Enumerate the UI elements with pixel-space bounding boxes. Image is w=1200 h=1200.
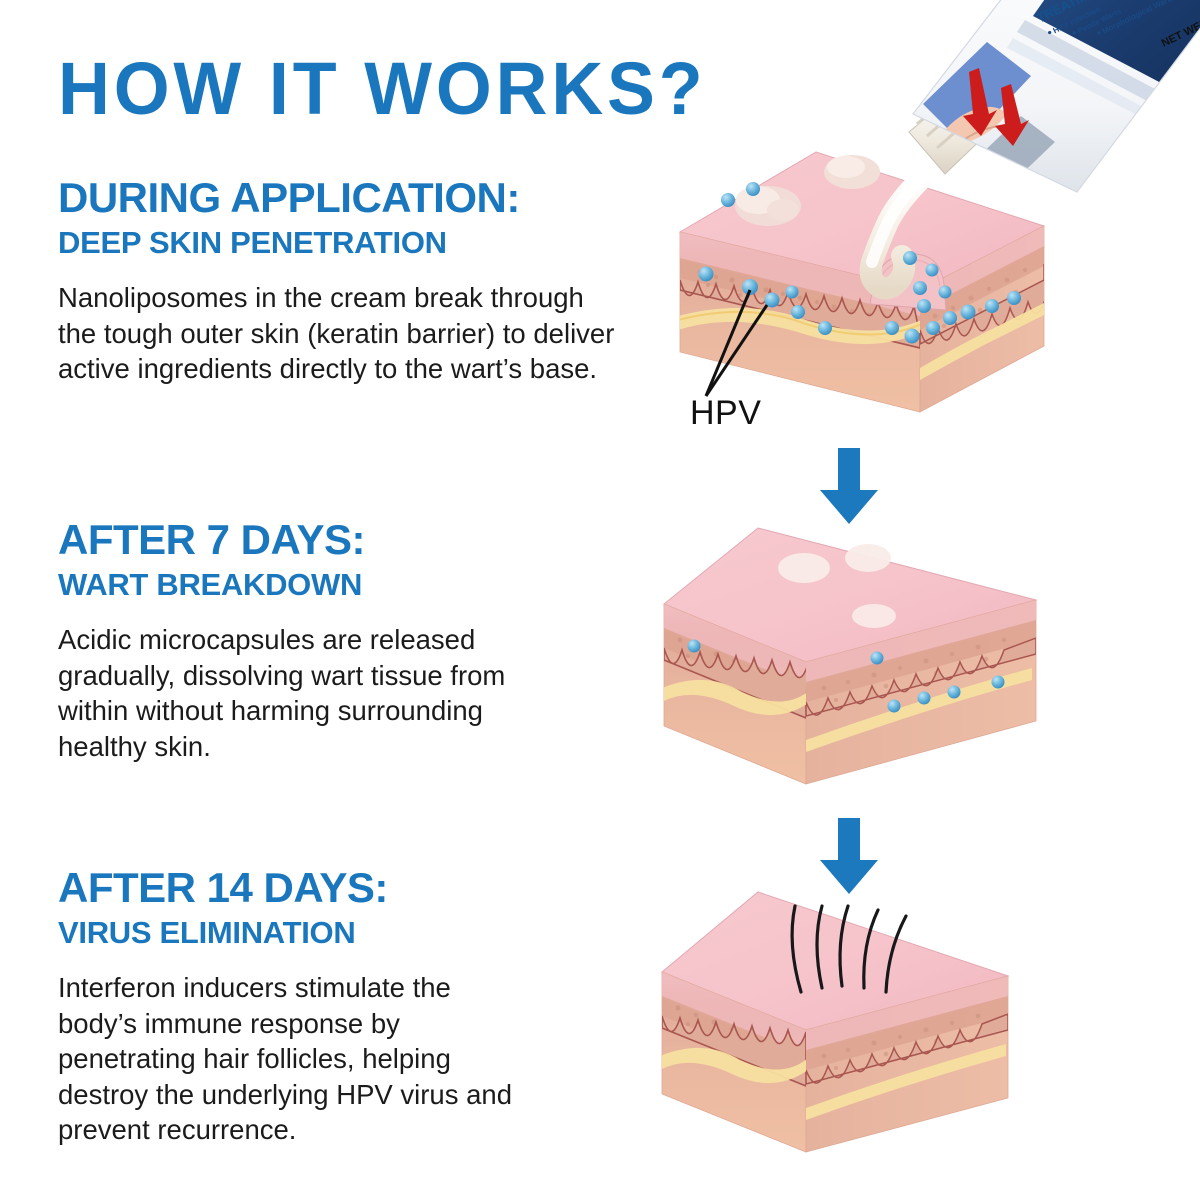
section-2-body: Acidic microcapsules are released gradua… (58, 622, 563, 764)
skin-diagram-after-7-days (636, 516, 1051, 801)
wart-cluster-center (824, 155, 880, 189)
section-1-body: Nanoliposomes in the cream break through… (58, 280, 618, 386)
section-3-body: Interferon inducers stimulate the body’s… (58, 970, 533, 1147)
section-3-heading: AFTER 14 DAYS: (58, 866, 618, 910)
page-title: HOW IT WORKS? (58, 52, 707, 126)
hpv-callout-label: HPV (690, 394, 761, 433)
product-tube: TREATMENT FOR: HPV Infection Penile Wart… (905, 0, 1200, 214)
section-1-subheading: DEEP SKIN PENETRATION (58, 224, 618, 263)
skin-diagram-after-14-days (636, 876, 1051, 1176)
section-3-subheading: VIRUS ELIMINATION (58, 914, 618, 953)
flow-arrow-down-1 (818, 448, 880, 526)
infographic-page: HOW IT WORKS? DURING APPLICATION: DEEP S… (0, 0, 1200, 1200)
section-after-7-days: AFTER 7 DAYS: WART BREAKDOWN Acidic micr… (58, 518, 618, 764)
section-1-heading: DURING APPLICATION: (58, 176, 618, 220)
section-after-14-days: AFTER 14 DAYS: VIRUS ELIMINATION Interfe… (58, 866, 618, 1148)
section-2-subheading: WART BREAKDOWN (58, 566, 618, 605)
arrow-down-icon (818, 448, 880, 526)
product-tube-illustration: TREATMENT FOR: HPV Infection Penile Wart… (905, 0, 1200, 214)
section-during-application: DURING APPLICATION: DEEP SKIN PENETRATIO… (58, 176, 618, 387)
skin-block-illustration-2 (636, 516, 1051, 801)
skin-block-illustration-3 (636, 876, 1051, 1176)
wart-cluster-left (735, 186, 801, 226)
section-2-heading: AFTER 7 DAYS: (58, 518, 618, 562)
